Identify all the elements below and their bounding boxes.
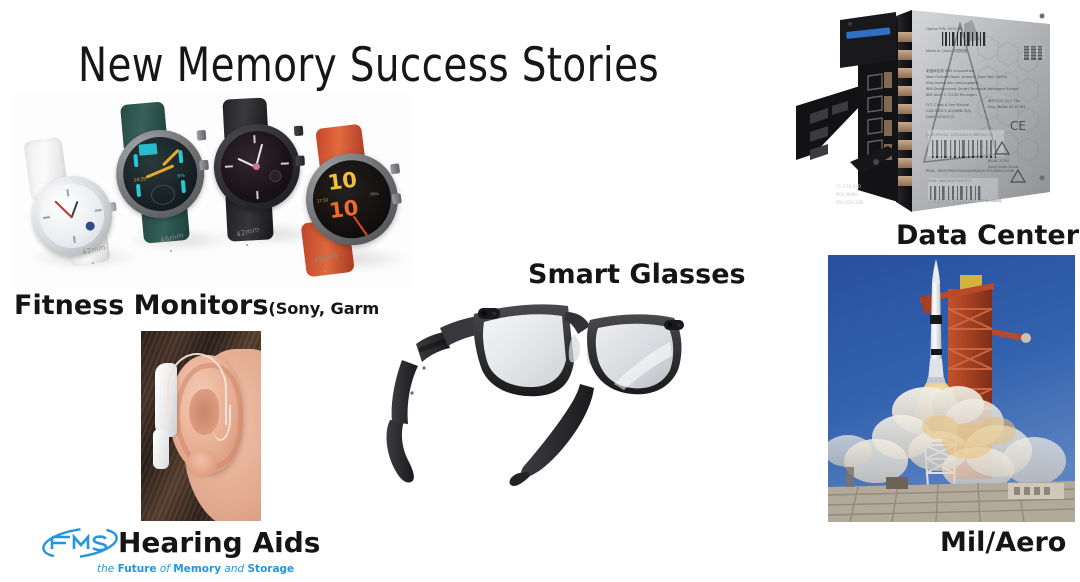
fms-logo [40,526,120,560]
fitness-monitors-label-main: Fitness Monitors [14,290,268,321]
svg-text:PCIe NVMe: PCIe NVMe [836,192,858,197]
svg-text:New Orchard Road, Armonk, New: New Orchard Road, Armonk, New York 10504 [926,75,1008,79]
watch-dial-digits-top: 10 [327,170,359,194]
fms-tagline-and: and [221,563,247,575]
watch-orange: 10 10 17:33 78% [275,119,412,281]
slide-canvas: New Memory Success Stories 42mm [0,0,1080,582]
svg-text:制造商信息 IBM Corporation: 制造商信息 IBM Corporation [926,68,974,73]
svg-text:CE: CE [1010,119,1026,133]
svg-text:PSID: 78U5/PM0/7R0/0UAUR/4UV7V: PSID: 78U5/PM0/7R0/0UAUR/4UV7VY/SG01/1C0… [926,169,1015,173]
hearing-aids-label: Hearing Aids [118,529,320,557]
svg-text:15.2 TB SSD: 15.2 TB SSD [836,184,861,189]
fitness-monitors-photo: 42mm 14:29 6% 46mm [12,92,412,287]
fms-tagline-of: of [157,563,174,575]
svg-text:IBM Allee 1 71139 Ehningen: IBM Allee 1 71139 Ehningen [926,93,977,97]
smart-glasses-label: Smart Glasses [528,261,746,288]
page-title: New Memory Success Stories [78,38,659,93]
fms-tagline: the Future of Memory and Storage [97,563,294,575]
svg-text:IBM FCN 10.2 TBs: IBM FCN 10.2 TBs [988,99,1020,103]
fms-tagline-memory: Memory [173,563,221,575]
data-center-ssd-photo: Option P/N: 00Y1/98 Made in China 中国制造 制… [792,2,1077,230]
svg-text:Made in China 中国制造: Made in China 中国制造 [926,48,968,53]
svg-text:IBM Deutschland GmbH Technical: IBM Deutschland GmbH Technical Hardware … [926,87,1019,91]
mil-aero-label: Mil/Aero [940,529,1066,556]
fms-tagline-future: Future [118,563,157,575]
svg-text:Option P/N: 00Y1/98: Option P/N: 00Y1/98 [926,27,963,31]
fms-tagline-the: the [97,563,118,575]
svg-text:BA-BC-FCKS: BA-BC-FCKS [988,159,1010,163]
hearing-aid-photo [141,331,261,521]
fms-tagline-storage: Storage [247,563,294,575]
svg-text:FCC Class A See Manual: FCC Class A See Manual [926,103,969,107]
data-center-label: Data Center [896,222,1079,249]
svg-text:http://www.ibm.com/support/: http://www.ibm.com/support/ [926,81,979,85]
svg-text:CAN ICES-3 (A)/NMB-3(A): CAN ICES-3 (A)/NMB-3(A) [926,109,972,113]
smart-glasses-photo [378,300,728,500]
mil-aero-rocket-photo [828,255,1075,522]
svg-text:Reg. Model ID: FCW2: Reg. Model ID: FCW2 [988,105,1026,109]
svg-text:FRU 02YC438: FRU 02YC438 [836,200,863,205]
svg-text:Solid State Drive: Solid State Drive [988,165,1019,169]
svg-text:DoM: 2016/07/1: DoM: 2016/07/1 [926,115,955,119]
